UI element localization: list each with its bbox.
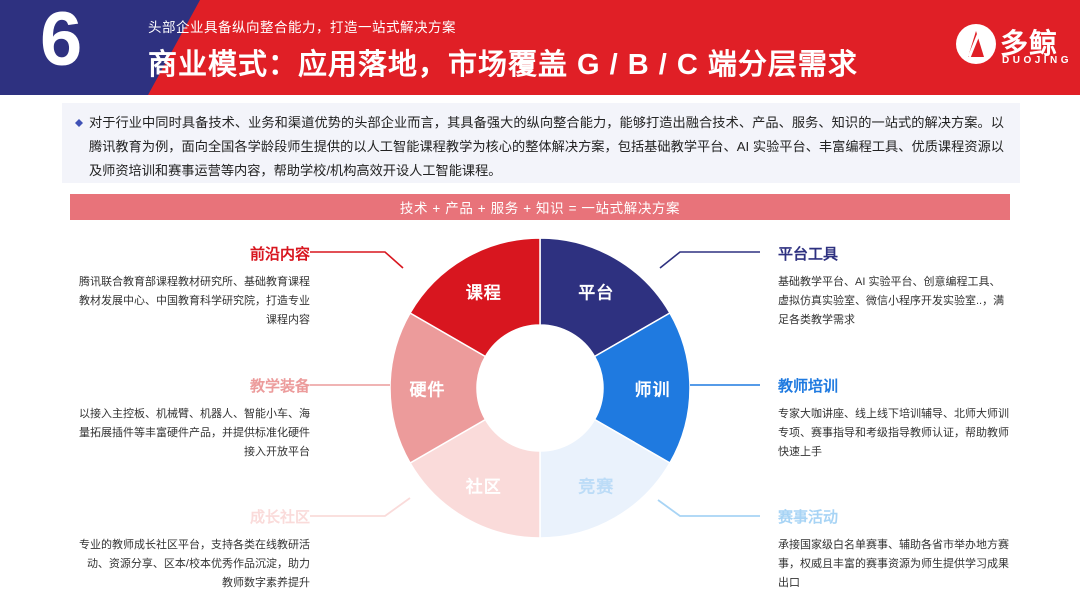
callout-title: 教师培训 <box>778 375 1010 396</box>
donut-label-硬件: 硬件 <box>410 376 446 401</box>
whale-logo-icon <box>956 24 996 64</box>
callout-title: 平台工具 <box>778 243 1010 264</box>
callout-title: 成长社区 <box>78 506 310 527</box>
formula-banner: 技术 + 产品 + 服务 + 知识 = 一站式解决方案 <box>70 194 1010 220</box>
logo-text-en: DUOJING <box>1002 55 1072 66</box>
callout-body: 以接入主控板、机械臂、机器人、智能小车、海量拓展插件等丰富硬件产品，并提供标准化… <box>78 405 310 462</box>
callout-body: 专家大咖讲座、线上线下培训辅导、北师大师训专项、赛事指导和考级指导教师认证，帮助… <box>778 405 1010 462</box>
formula-banner-text: 技术 + 产品 + 服务 + 知识 = 一站式解决方案 <box>400 197 680 217</box>
callout-platform-tools: 平台工具 基础教学平台、AI 实验平台、创意编程工具、虚拟仿真实验室、微信小程序… <box>778 243 1010 330</box>
callout-frontier-content: 前沿内容 腾讯联合教育部课程教材研究所、基础教育课程教材发展中心、中国教育科学研… <box>78 243 310 330</box>
callout-teaching-equipment: 教学装备 以接入主控板、机械臂、机器人、智能小车、海量拓展插件等丰富硬件产品，并… <box>78 375 310 462</box>
slide-number: 6 <box>40 0 80 83</box>
diamond-bullet-icon <box>75 119 83 123</box>
callout-body: 腾讯联合教育部课程教材研究所、基础教育课程教材发展中心、中国教育科学研究院，打造… <box>78 273 310 330</box>
donut-label-竞赛: 竞赛 <box>578 473 614 498</box>
donut-label-平台: 平台 <box>578 278 614 303</box>
donut-label-社区: 社区 <box>466 473 502 498</box>
donut-chart: 平台师训竞赛社区硬件课程 <box>390 238 690 538</box>
callout-body: 专业的教师成长社区平台，支持各类在线教研活动、资源分享、区本/校本优秀作品沉淀，… <box>78 536 310 593</box>
page-title: 商业模式：应用落地，市场覆盖 G / B / C 端分层需求 <box>148 41 858 83</box>
brand-logo: 多鲸 DUOJING <box>956 22 1066 74</box>
intro-paragraph: 对于行业中同时具备技术、业务和渠道优势的头部企业而言，其具备强大的纵向整合能力，… <box>89 111 1004 183</box>
slide-header: 6 头部企业具备纵向整合能力，打造一站式解决方案 商业模式：应用落地，市场覆盖 … <box>0 0 1080 95</box>
intro-panel: 对于行业中同时具备技术、业务和渠道优势的头部企业而言，其具备强大的纵向整合能力，… <box>62 103 1020 183</box>
callout-growth-community: 成长社区 专业的教师成长社区平台，支持各类在线教研活动、资源分享、区本/校本优秀… <box>78 506 310 593</box>
callout-title: 前沿内容 <box>78 243 310 264</box>
callout-title: 教学装备 <box>78 375 310 396</box>
header-subtitle: 头部企业具备纵向整合能力，打造一站式解决方案 <box>148 16 456 36</box>
callout-title: 赛事活动 <box>778 506 1010 527</box>
callout-competition-events: 赛事活动 承接国家级白名单赛事、辅助各省市举办地方赛事，权威且丰富的赛事资源为师… <box>778 506 1010 593</box>
callout-body: 承接国家级白名单赛事、辅助各省市举办地方赛事，权威且丰富的赛事资源为师生提供学习… <box>778 536 1010 593</box>
callout-teacher-training: 教师培训 专家大咖讲座、线上线下培训辅导、北师大师训专项、赛事指导和考级指导教师… <box>778 375 1010 462</box>
donut-label-师训: 师训 <box>635 376 671 401</box>
callout-body: 基础教学平台、AI 实验平台、创意编程工具、虚拟仿真实验室、微信小程序开发实验室… <box>778 273 1010 330</box>
donut-label-课程: 课程 <box>466 278 502 303</box>
